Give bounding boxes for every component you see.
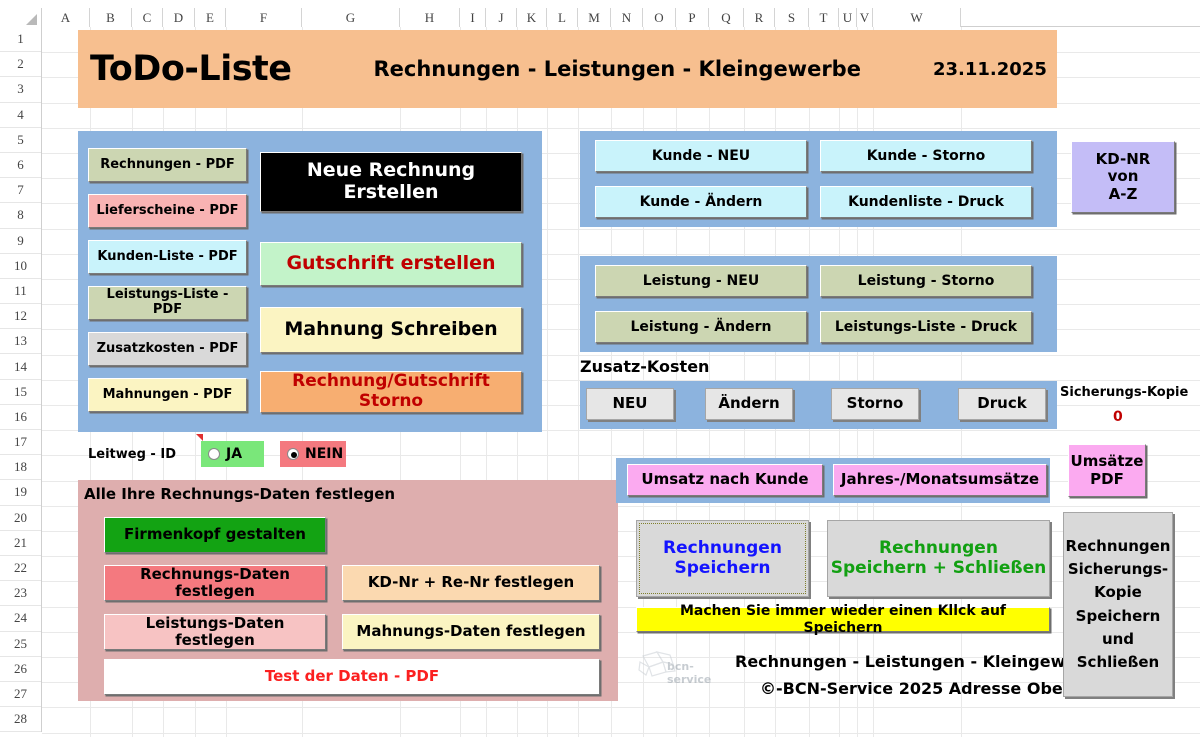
button-label-line2: Speichern + Schließen bbox=[831, 559, 1047, 579]
button-lieferscheine-pdf[interactable]: Lieferscheine - PDF bbox=[88, 194, 247, 228]
button-label-line3: Kopie bbox=[1094, 581, 1142, 604]
select-all-triangle-icon bbox=[26, 14, 37, 25]
row-header-28[interactable]: 28 bbox=[0, 707, 41, 732]
button-rechnungs-daten-festlegen[interactable]: Rechnungs-Daten festlegen bbox=[104, 565, 326, 601]
button-leistung-aendern[interactable]: Leistung - Ändern bbox=[595, 311, 807, 343]
button-rechnungen-speichern[interactable]: Rechnungen Speichern bbox=[636, 520, 809, 597]
row-header-17[interactable]: 17 bbox=[0, 430, 41, 455]
button-label-line2: PDF bbox=[1090, 471, 1124, 488]
column-header-s[interactable]: S bbox=[775, 8, 809, 27]
radio-indicator bbox=[287, 448, 299, 460]
button-label: Mahnungs-Daten festlegen bbox=[356, 623, 585, 640]
select-all-corner[interactable] bbox=[0, 8, 42, 27]
column-header-h[interactable]: H bbox=[400, 8, 460, 27]
row-header-18[interactable]: 18 bbox=[0, 455, 41, 480]
button-rechnungen-speichern-schliessen[interactable]: Rechnungen Speichern + Schließen bbox=[827, 520, 1050, 597]
column-header-u[interactable]: U bbox=[839, 8, 857, 27]
button-label: KD-Nr + Re-Nr festlegen bbox=[368, 574, 574, 591]
row-header-21[interactable]: 21 bbox=[0, 531, 41, 556]
button-gutschrift-erstellen[interactable]: Gutschrift erstellen bbox=[260, 242, 522, 286]
button-label: Kunden-Liste - PDF bbox=[97, 250, 237, 265]
footer-line-2: ©-BCN-Service 2025 Adresse Oben bbox=[760, 679, 1074, 698]
button-zusatz-storno[interactable]: Storno bbox=[831, 388, 919, 420]
button-label-line1: KD-NR bbox=[1096, 151, 1151, 168]
header-date: 23.11.2025 bbox=[933, 59, 1047, 80]
row-header-26[interactable]: 26 bbox=[0, 657, 41, 682]
row-header-15[interactable]: 15 bbox=[0, 380, 41, 405]
row-header-7[interactable]: 7 bbox=[0, 178, 41, 203]
row-header-13[interactable]: 13 bbox=[0, 329, 41, 354]
button-label-line5: und bbox=[1102, 628, 1134, 651]
bcn-service-logo: bcn-service bbox=[637, 648, 727, 682]
row-header-23[interactable]: 23 bbox=[0, 581, 41, 606]
button-label-line1: Rechnungen bbox=[663, 539, 782, 559]
button-test-der-daten-pdf[interactable]: Test der Daten - PDF bbox=[104, 659, 600, 695]
column-header-e[interactable]: E bbox=[195, 8, 226, 27]
radio-leitweg-nein[interactable]: NEIN bbox=[280, 441, 346, 467]
button-mahnungs-daten-festlegen[interactable]: Mahnungs-Daten festlegen bbox=[342, 614, 600, 650]
button-label: Gutschrift erstellen bbox=[286, 253, 495, 275]
row-header-3[interactable]: 3 bbox=[0, 77, 41, 102]
button-label-line1: Rechnungen bbox=[1066, 535, 1171, 558]
row-header-10[interactable]: 10 bbox=[0, 254, 41, 279]
button-rechnungen-sicherungs-kopie-speichern-schliessen[interactable]: Rechnungen Sicherungs- Kopie Speichern u… bbox=[1063, 512, 1173, 697]
button-label-line2: Sicherungs- bbox=[1068, 558, 1168, 581]
radio-indicator bbox=[208, 448, 220, 460]
row-header-4[interactable]: 4 bbox=[0, 103, 41, 128]
column-header-a[interactable]: A bbox=[42, 8, 90, 27]
button-umsatz-nach-kunde[interactable]: Umsatz nach Kunde bbox=[627, 464, 823, 496]
row-header-27[interactable]: 27 bbox=[0, 682, 41, 707]
button-label: Lieferscheine - PDF bbox=[96, 204, 238, 219]
column-header-r[interactable]: R bbox=[744, 8, 775, 27]
button-kunde-neu[interactable]: Kunde - NEU bbox=[595, 140, 807, 172]
row-header-12[interactable]: 12 bbox=[0, 304, 41, 329]
radio-label: NEIN bbox=[305, 446, 343, 462]
settings-panel-title: Alle Ihre Rechnungs-Daten festlegen bbox=[84, 485, 395, 503]
button-kunden-liste-pdf[interactable]: Kunden-Liste - PDF bbox=[88, 240, 247, 274]
cell-comment-marker-icon bbox=[196, 434, 203, 441]
save-hint-text: Machen Sie immer wieder einen Kllck auf … bbox=[639, 603, 1047, 635]
button-mahnungen-pdf[interactable]: Mahnungen - PDF bbox=[88, 378, 247, 412]
button-label: Umsatz nach Kunde bbox=[641, 471, 808, 488]
row-header-20[interactable]: 20 bbox=[0, 506, 41, 531]
row-header-1[interactable]: 1 bbox=[0, 27, 41, 52]
column-header-o[interactable]: O bbox=[643, 8, 676, 27]
button-label-line6: Schließen bbox=[1077, 651, 1159, 674]
button-label: Kunde - Ändern bbox=[640, 194, 763, 210]
row-header-24[interactable]: 24 bbox=[0, 606, 41, 631]
button-label: Ändern bbox=[718, 395, 779, 412]
button-label: Leistungs-Liste - PDF bbox=[91, 288, 244, 318]
leitweg-id-label: Leitweg - ID bbox=[88, 447, 176, 462]
button-kd-nr-von-a-z[interactable]: KD-NR von A-Z bbox=[1071, 141, 1175, 213]
button-label: Leistung - NEU bbox=[643, 273, 759, 289]
column-header-j[interactable]: J bbox=[486, 8, 517, 27]
page-subtitle: Rechnungen - Leistungen - Kleingewerbe bbox=[374, 57, 861, 81]
button-label-line3: A-Z bbox=[1109, 186, 1138, 203]
row-header-22[interactable]: 22 bbox=[0, 556, 41, 581]
button-label: Kunde - NEU bbox=[652, 148, 750, 164]
column-header-m[interactable]: M bbox=[578, 8, 611, 27]
button-label: Leistungs-Daten festlegen bbox=[107, 615, 323, 650]
row-header-9[interactable]: 9 bbox=[0, 229, 41, 254]
button-jahres-monatsumsaetze[interactable]: Jahres-/Monatsumsätze bbox=[833, 464, 1047, 496]
button-label: Leistungs-Liste - Druck bbox=[835, 319, 1017, 335]
button-label: Storno bbox=[847, 395, 904, 412]
radio-leitweg-ja[interactable]: JA bbox=[201, 441, 264, 467]
button-neue-rechnung-erstellen[interactable]: Neue Rechnung Erstellen bbox=[260, 152, 522, 212]
spreadsheet-app: ABCDEFGHIJKLMNOPQRSTUVW 1234567891011121… bbox=[0, 0, 1200, 737]
column-header-f[interactable]: F bbox=[226, 8, 302, 27]
button-label-line1: Rechnungen bbox=[879, 539, 998, 559]
button-kundenliste-druck[interactable]: Kundenliste - Druck bbox=[820, 186, 1032, 218]
page-title: ToDo-Liste bbox=[90, 49, 292, 89]
row-header-column: 1234567891011121314151617181920212223242… bbox=[0, 27, 42, 732]
button-label: Firmenkopf gestalten bbox=[124, 526, 306, 543]
button-label-line2: Speichern bbox=[675, 559, 771, 579]
button-leistungs-liste-druck[interactable]: Leistungs-Liste - Druck bbox=[820, 311, 1032, 343]
column-header-d[interactable]: D bbox=[163, 8, 195, 27]
column-header-k[interactable]: K bbox=[517, 8, 547, 27]
save-hint-banner: Machen Sie immer wieder einen Kllck auf … bbox=[636, 607, 1050, 632]
button-label: Mahnung Schreiben bbox=[284, 319, 497, 341]
zusatz-kosten-title: Zusatz-Kosten bbox=[580, 357, 709, 376]
button-label: Rechnung/Gutschrift Storno bbox=[263, 372, 519, 411]
button-label: Test der Daten - PDF bbox=[265, 668, 439, 685]
title-banner: ToDo-Liste Rechnungen - Leistungen - Kle… bbox=[78, 30, 1057, 108]
button-label: Mahnungen - PDF bbox=[103, 388, 233, 403]
radio-label: JA bbox=[226, 446, 242, 462]
button-leistung-storno[interactable]: Leistung - Storno bbox=[820, 265, 1032, 297]
button-label: Kundenliste - Druck bbox=[848, 194, 1004, 210]
row-header-8[interactable]: 8 bbox=[0, 203, 41, 228]
column-header-n[interactable]: N bbox=[611, 8, 643, 27]
button-label: NEU bbox=[613, 395, 648, 412]
row-header-16[interactable]: 16 bbox=[0, 405, 41, 430]
footer-line-1: Rechnungen - Leistungen - Kleingewerbe bbox=[735, 652, 1106, 671]
button-kunde-aendern[interactable]: Kunde - Ändern bbox=[595, 186, 807, 218]
button-label: Druck bbox=[977, 395, 1026, 412]
button-label: Zusatzkosten - PDF bbox=[97, 342, 239, 357]
button-label: Rechnungs-Daten festlegen bbox=[107, 566, 323, 601]
button-zusatzkosten-pdf[interactable]: Zusatzkosten - PDF bbox=[88, 332, 247, 366]
logo-wordmark: bcn-service bbox=[667, 660, 727, 686]
button-leistungs-daten-festlegen[interactable]: Leistungs-Daten festlegen bbox=[104, 614, 326, 650]
row-header-14[interactable]: 14 bbox=[0, 354, 41, 379]
button-label: Kunde - Storno bbox=[867, 148, 986, 164]
column-header-c[interactable]: C bbox=[132, 8, 163, 27]
button-umsaetze-pdf[interactable]: Umsätze PDF bbox=[1068, 444, 1146, 497]
button-firmenkopf-gestalten[interactable]: Firmenkopf gestalten bbox=[104, 517, 326, 553]
row-header-11[interactable]: 11 bbox=[0, 279, 41, 304]
button-zusatz-neu[interactable]: NEU bbox=[586, 388, 674, 420]
row-header-25[interactable]: 25 bbox=[0, 632, 41, 657]
column-header-l[interactable]: L bbox=[547, 8, 578, 27]
button-label: Leistung - Storno bbox=[858, 273, 995, 289]
button-kd-nr-re-nr-festlegen[interactable]: KD-Nr + Re-Nr festlegen bbox=[342, 565, 600, 601]
button-label-line2: von bbox=[1108, 168, 1139, 185]
button-label-line4: Speichern bbox=[1076, 605, 1161, 628]
button-kunde-storno[interactable]: Kunde - Storno bbox=[820, 140, 1032, 172]
button-label: Neue Rechnung Erstellen bbox=[263, 160, 519, 204]
row-header-6[interactable]: 6 bbox=[0, 153, 41, 178]
button-label: Leistung - Ändern bbox=[631, 319, 772, 335]
button-rechnung-gutschrift-storno[interactable]: Rechnung/Gutschrift Storno bbox=[260, 371, 522, 413]
column-header-row: ABCDEFGHIJKLMNOPQRSTUVW bbox=[0, 8, 1200, 27]
backup-status-value: 0 bbox=[1113, 409, 1123, 425]
column-header-w[interactable]: W bbox=[873, 8, 961, 27]
row-header-2[interactable]: 2 bbox=[0, 52, 41, 77]
row-header-5[interactable]: 5 bbox=[0, 128, 41, 153]
column-header-i[interactable]: I bbox=[460, 8, 486, 27]
button-label: Rechnungen - PDF bbox=[100, 158, 235, 173]
button-label-line1: Umsätze bbox=[1071, 453, 1144, 470]
backup-status-label: Sicherungs-Kopie bbox=[1060, 385, 1188, 400]
column-header-t[interactable]: T bbox=[809, 8, 839, 27]
button-zusatz-aendern[interactable]: Ändern bbox=[705, 388, 793, 420]
column-header-v[interactable]: V bbox=[857, 8, 873, 27]
button-leistungs-liste-pdf[interactable]: Leistungs-Liste - PDF bbox=[88, 286, 247, 320]
button-zusatz-druck[interactable]: Druck bbox=[958, 388, 1046, 420]
column-header-b[interactable]: B bbox=[90, 8, 132, 27]
column-header-g[interactable]: G bbox=[302, 8, 400, 27]
button-mahnung-schreiben[interactable]: Mahnung Schreiben bbox=[260, 307, 522, 353]
button-label: Jahres-/Monatsumsätze bbox=[841, 471, 1039, 488]
column-header-q[interactable]: Q bbox=[709, 8, 744, 27]
column-header-p[interactable]: P bbox=[676, 8, 709, 27]
button-leistung-neu[interactable]: Leistung - NEU bbox=[595, 265, 807, 297]
button-rechnungen-pdf[interactable]: Rechnungen - PDF bbox=[88, 148, 247, 182]
row-header-19[interactable]: 19 bbox=[0, 480, 41, 505]
